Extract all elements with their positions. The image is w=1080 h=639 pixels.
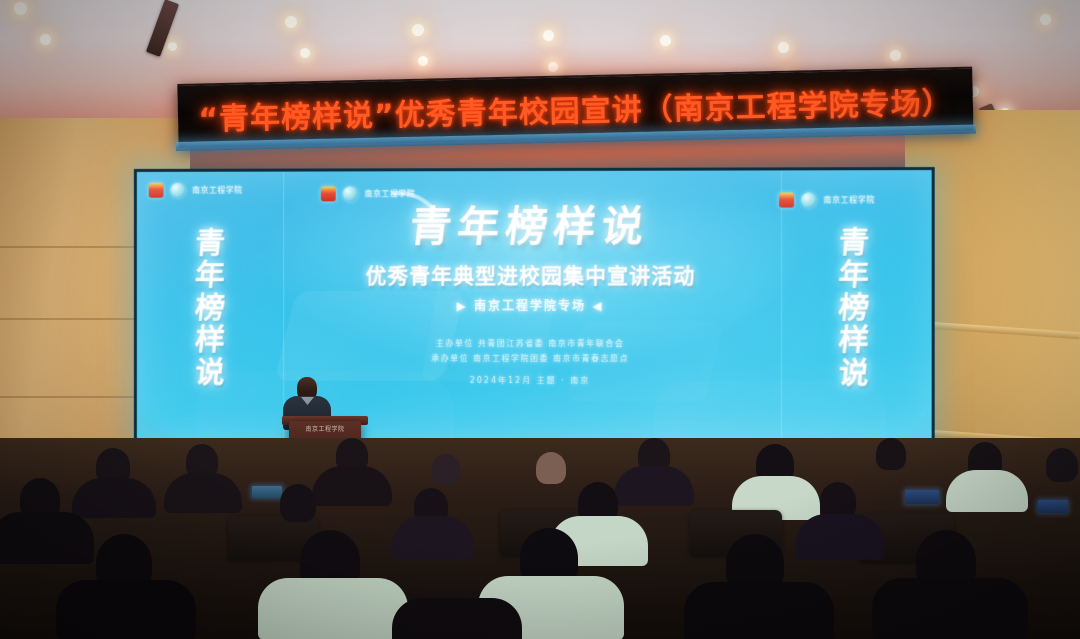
- audience-person: [1046, 448, 1078, 482]
- audience-person-shoulders: [872, 578, 1028, 639]
- school-wordmark: 南京工程学院: [192, 185, 242, 196]
- audience-person-shoulders: [258, 578, 408, 639]
- laptop-screen: [252, 486, 282, 498]
- downlight: [168, 42, 177, 51]
- ceiling-light-bar: [146, 0, 179, 57]
- audience-person-shoulders: [312, 466, 392, 506]
- audience-person: [536, 452, 566, 484]
- screen-center-content: 青年榜样说 优秀青年典型进校园集中宣讲活动 ▶ 南京工程学院专场 ◀ 主办单位 …: [331, 193, 731, 387]
- audience-person-shoulders: [164, 473, 242, 513]
- vertical-char: 年: [837, 261, 870, 292]
- school-wordmark: 南京工程学院: [823, 194, 875, 205]
- audience-person-shoulders: [946, 470, 1028, 512]
- audience-person-shoulders: [392, 598, 522, 639]
- downlight: [40, 34, 51, 45]
- podium-front-text: 南京工程学院: [289, 424, 361, 433]
- vertical-char: 样: [194, 326, 226, 356]
- audience-person-shoulders: [796, 514, 884, 560]
- presentation-screen: 南京工程学院 南京工程学院 南京工程学院 青 年 榜 样 说 青 年 榜 样 说: [134, 167, 935, 447]
- audience-person-shoulders: [392, 516, 474, 560]
- logo-cluster: 南京工程学院: [149, 183, 243, 198]
- audience-person: [432, 454, 460, 484]
- downlight: [300, 48, 310, 58]
- screen-main-title: 青年榜样说: [327, 193, 734, 255]
- downlight: [418, 56, 428, 66]
- vertical-char: 说: [194, 359, 226, 389]
- vertical-char: 说: [837, 359, 870, 390]
- audience-person: [876, 438, 906, 470]
- vertical-char: 青: [194, 229, 226, 259]
- audience-person-shoulders: [684, 582, 834, 639]
- audience-person: [280, 484, 316, 522]
- downlight: [14, 2, 27, 15]
- screen-panel-divider: [781, 170, 782, 443]
- school-seal-logo-icon: [170, 183, 185, 198]
- vertical-char: 年: [194, 261, 226, 291]
- vertical-char: 榜: [194, 294, 226, 324]
- credit-line: 承办单位 南京工程学院团委 南京市青春志愿点: [331, 351, 731, 367]
- downlight: [660, 35, 671, 46]
- audience-area: [0, 438, 1080, 639]
- left-vertical-title-panel: 青 年 榜 样 说: [178, 209, 241, 408]
- red-gold-emblem-icon: [779, 192, 794, 207]
- vertical-char: 青: [837, 228, 870, 259]
- audience-person-shoulders: [614, 466, 694, 506]
- screen-sub-title: 优秀青年典型进校园集中宣讲活动: [331, 260, 731, 290]
- downlight: [890, 50, 901, 61]
- vertical-char: 样: [837, 326, 870, 357]
- auditorium-photo: “青年榜样说”优秀青年校园宣讲（南京工程学院专场） 南京工程学院 南京工程学院 …: [0, 0, 1080, 639]
- downlight: [285, 16, 297, 28]
- downlight: [778, 42, 789, 53]
- laptop-screen: [1038, 500, 1068, 513]
- audience-person-shoulders: [72, 478, 156, 518]
- audience-person-shoulders: [0, 512, 94, 564]
- credit-date: 2024年12月 主题 · 南京: [331, 375, 731, 387]
- screen-credits: 主办单位 共青团江苏省委 南京市青年联合会 承办单位 南京工程学院团委 南京市青…: [331, 336, 731, 387]
- audience-person-shoulders: [56, 580, 196, 639]
- red-gold-emblem-icon: [149, 183, 164, 198]
- downlight: [548, 62, 558, 72]
- logo-cluster: 南京工程学院: [779, 192, 875, 207]
- school-seal-logo-icon: [801, 192, 816, 207]
- vertical-char: 榜: [837, 294, 870, 325]
- laptop-screen: [905, 490, 939, 504]
- downlight: [1040, 14, 1051, 25]
- screen-venue-line: ▶ 南京工程学院专场 ◀: [331, 297, 731, 314]
- downlight: [543, 30, 554, 41]
- credit-line: 主办单位 共青团江苏省委 南京市青年联合会: [331, 336, 731, 351]
- downlight: [412, 24, 424, 36]
- screen-panel-divider: [283, 172, 284, 443]
- right-vertical-title-panel: 青 年 榜 样 说: [821, 208, 886, 409]
